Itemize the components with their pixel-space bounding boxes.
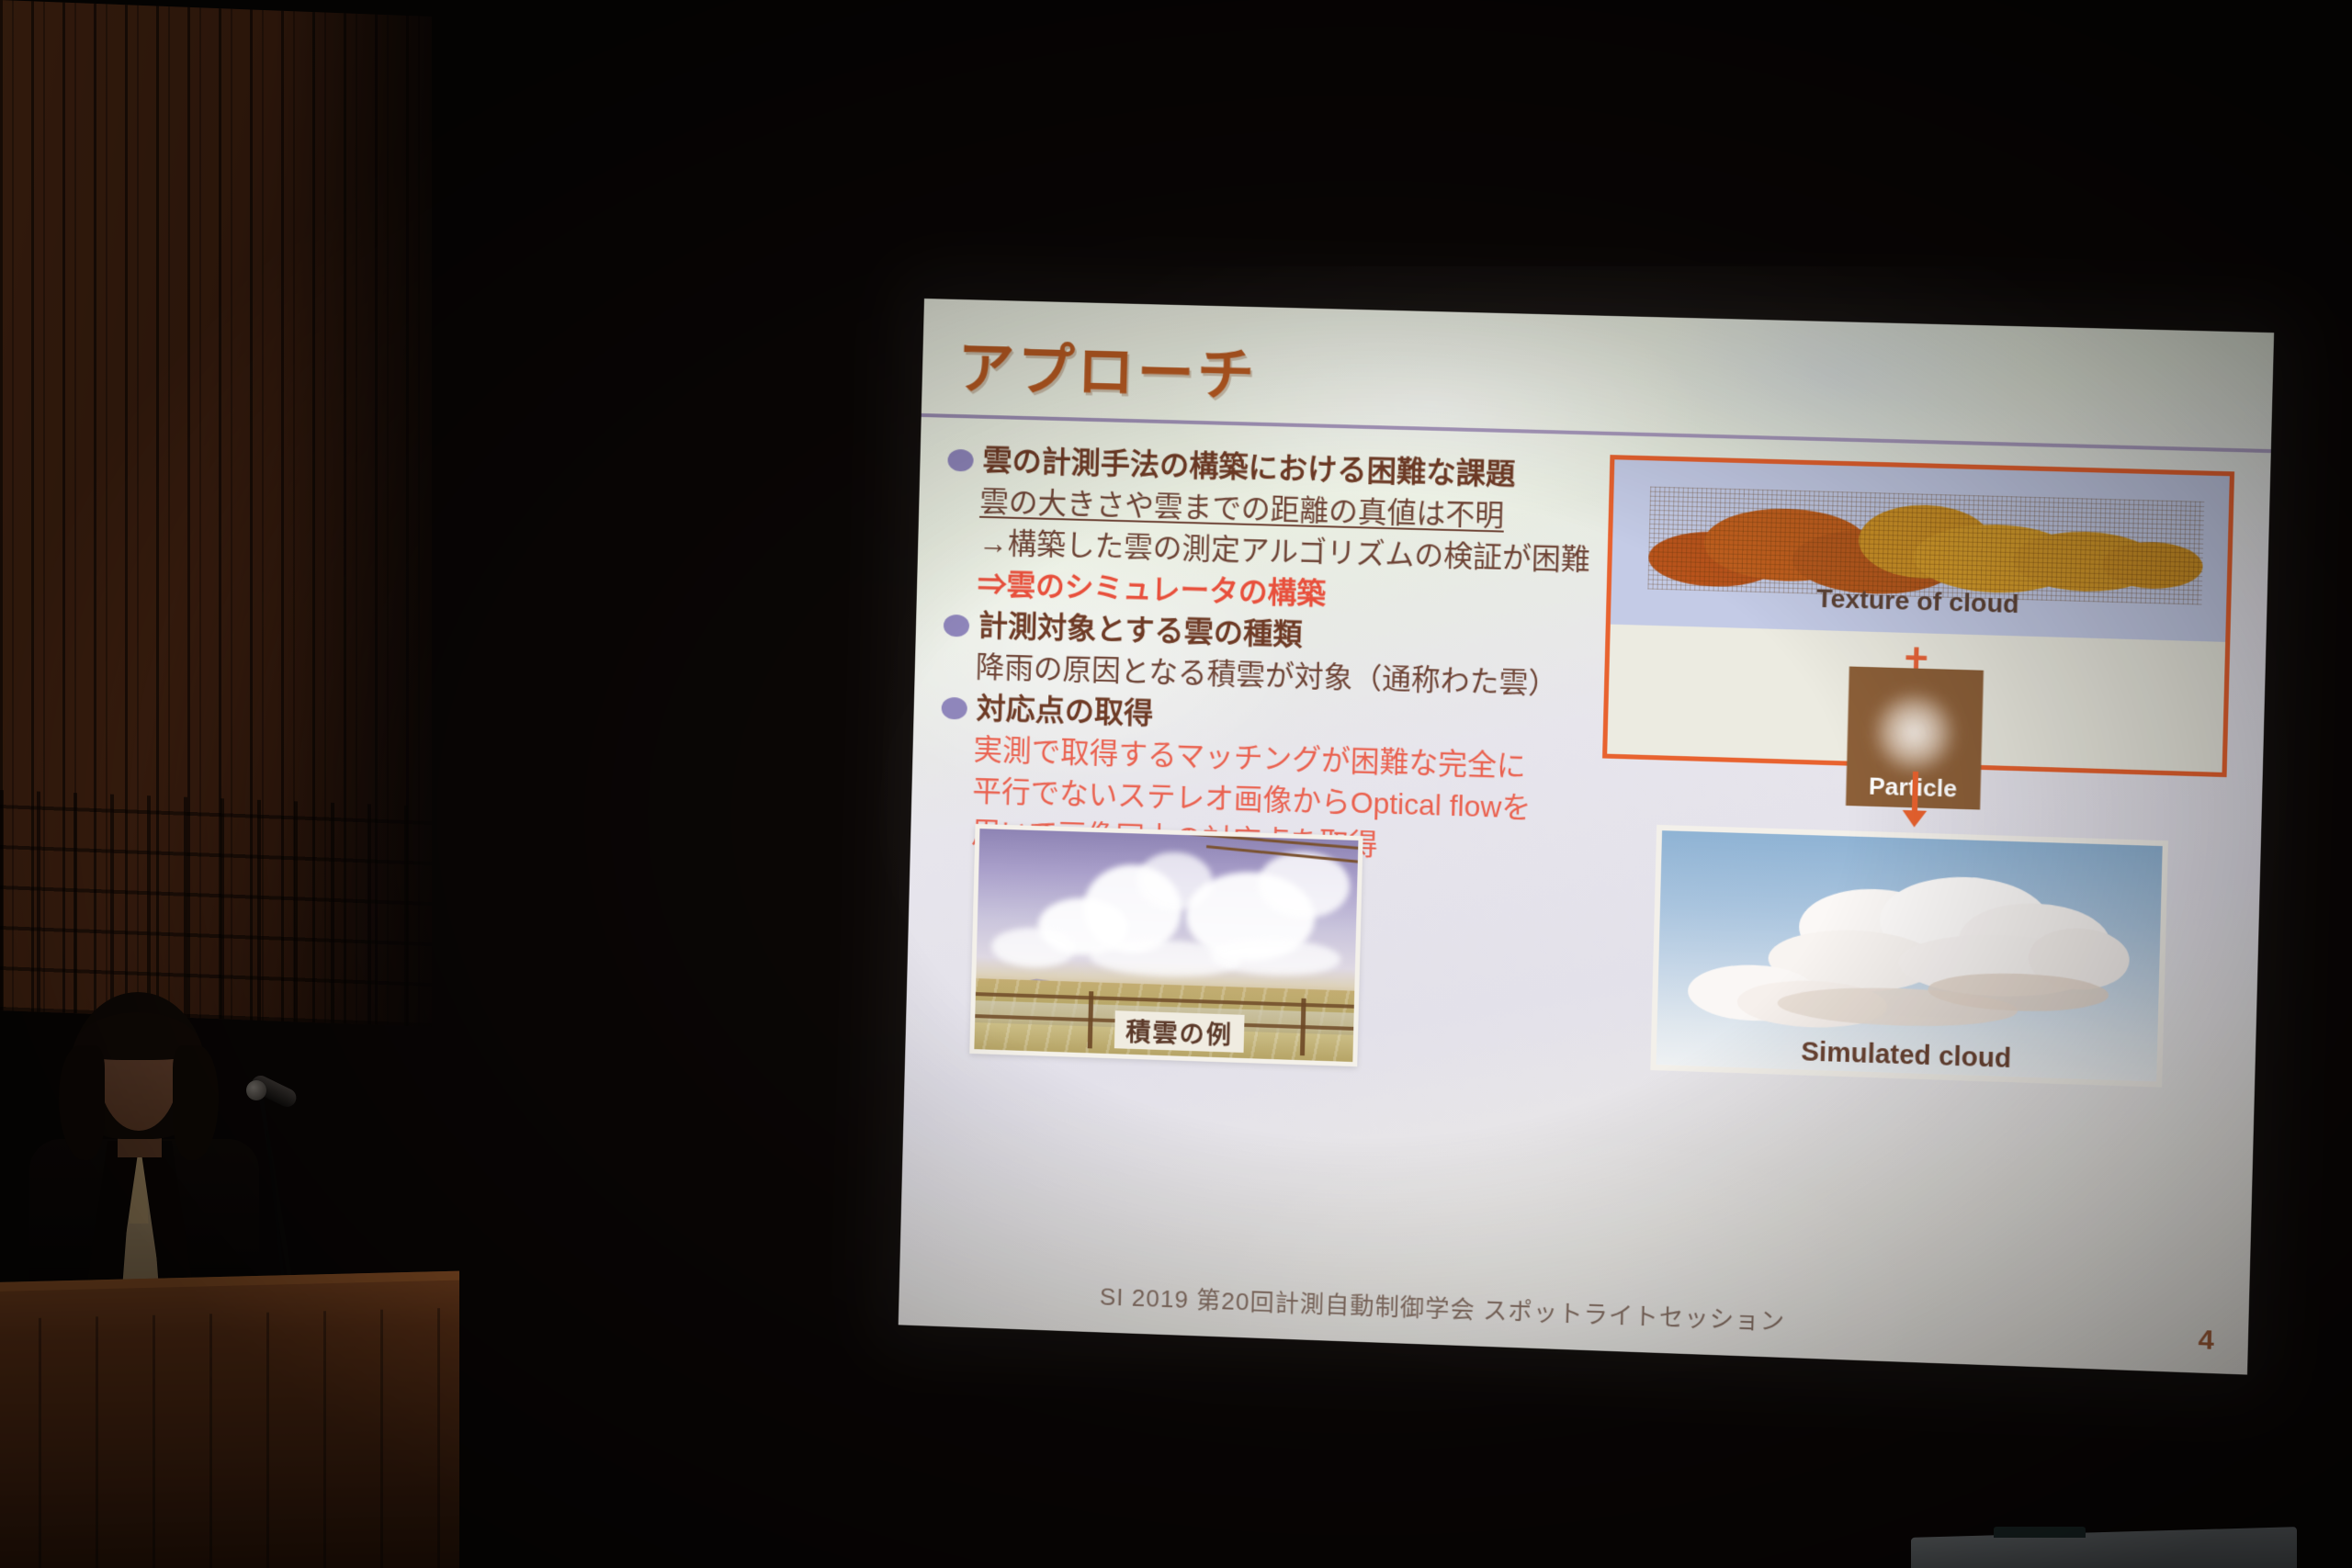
microphone-capsule-icon — [246, 1080, 266, 1100]
side-table — [1911, 1527, 2297, 1568]
bullet-dot-icon — [944, 615, 970, 637]
presenter — [18, 992, 266, 1295]
slide-footer: SI 2019 第20回計測自動制御学会 スポットライトセッション — [1100, 1278, 1786, 1337]
podium-panels — [0, 1308, 459, 1568]
laptop-on-table — [1994, 1527, 2086, 1538]
simulated-cloud-frame: Simulated cloud — [1650, 825, 2168, 1088]
cumulus-photo-frame: 積雲の例 — [969, 824, 1363, 1066]
projected-slide: アプローチ 雲の計測手法の構築における困難な課題 雲の大きさや雲までの距離の真値… — [899, 299, 2274, 1375]
down-arrow-icon — [1912, 772, 1918, 813]
bullet-dot-icon — [941, 697, 967, 720]
podium — [0, 1271, 459, 1568]
texture-particle-group-box: Texture of cloud + Particle — [1602, 455, 2234, 777]
bullet-heading-3-label: 対応点の取得 — [976, 692, 1153, 730]
presenter-hair-left — [59, 1045, 105, 1160]
simulated-cloud-image: Simulated cloud — [1657, 830, 2163, 1081]
cumulus-photo: 積雲の例 — [974, 829, 1358, 1062]
wall-shadow-gradient — [276, 0, 579, 1029]
slide-text-column: 雲の計測手法の構築における困難な課題 雲の大きさや雲までの距離の真値は不明 →構… — [936, 439, 1594, 873]
photo-caption: 積雲の例 — [1114, 1010, 1245, 1053]
auditorium-stage: アプローチ 雲の計測手法の構築における困難な課題 雲の大きさや雲までの距離の真値… — [0, 0, 2352, 1568]
bullet-dot-icon — [947, 449, 974, 472]
slide-title: アプローチ — [956, 321, 1258, 412]
bullet-heading-2-label: 計測対象とする雲の種類 — [978, 609, 1303, 651]
texture-panel: Texture of cloud — [1611, 459, 2230, 642]
slide-diagram-column: Texture of cloud + Particle — [1610, 455, 2239, 471]
simulated-cloud-label: Simulated cloud — [1657, 1032, 2157, 1080]
slide-page-number: 4 — [2198, 1325, 2214, 1357]
